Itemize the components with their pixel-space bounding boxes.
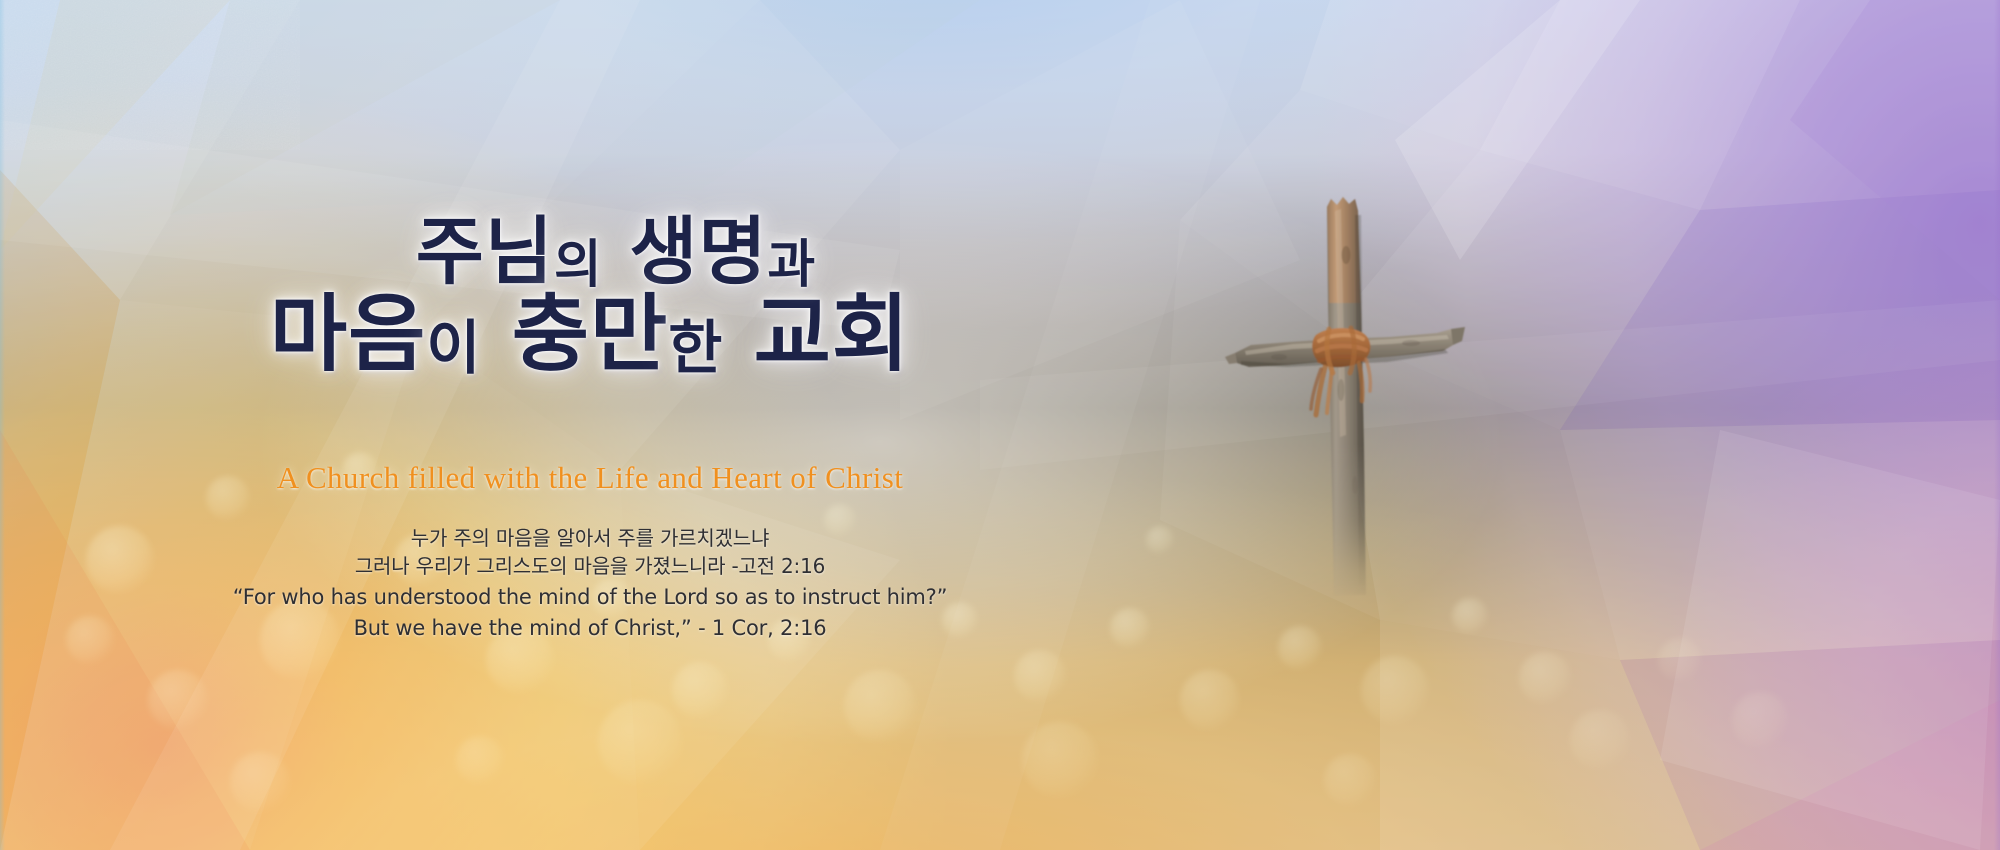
church-hero-banner: 주님의 생명과 마음이 충만한 교회 A Church filled with … — [0, 0, 2000, 850]
background-edge-tint — [0, 0, 2000, 850]
wooden-cross — [1215, 185, 1475, 605]
